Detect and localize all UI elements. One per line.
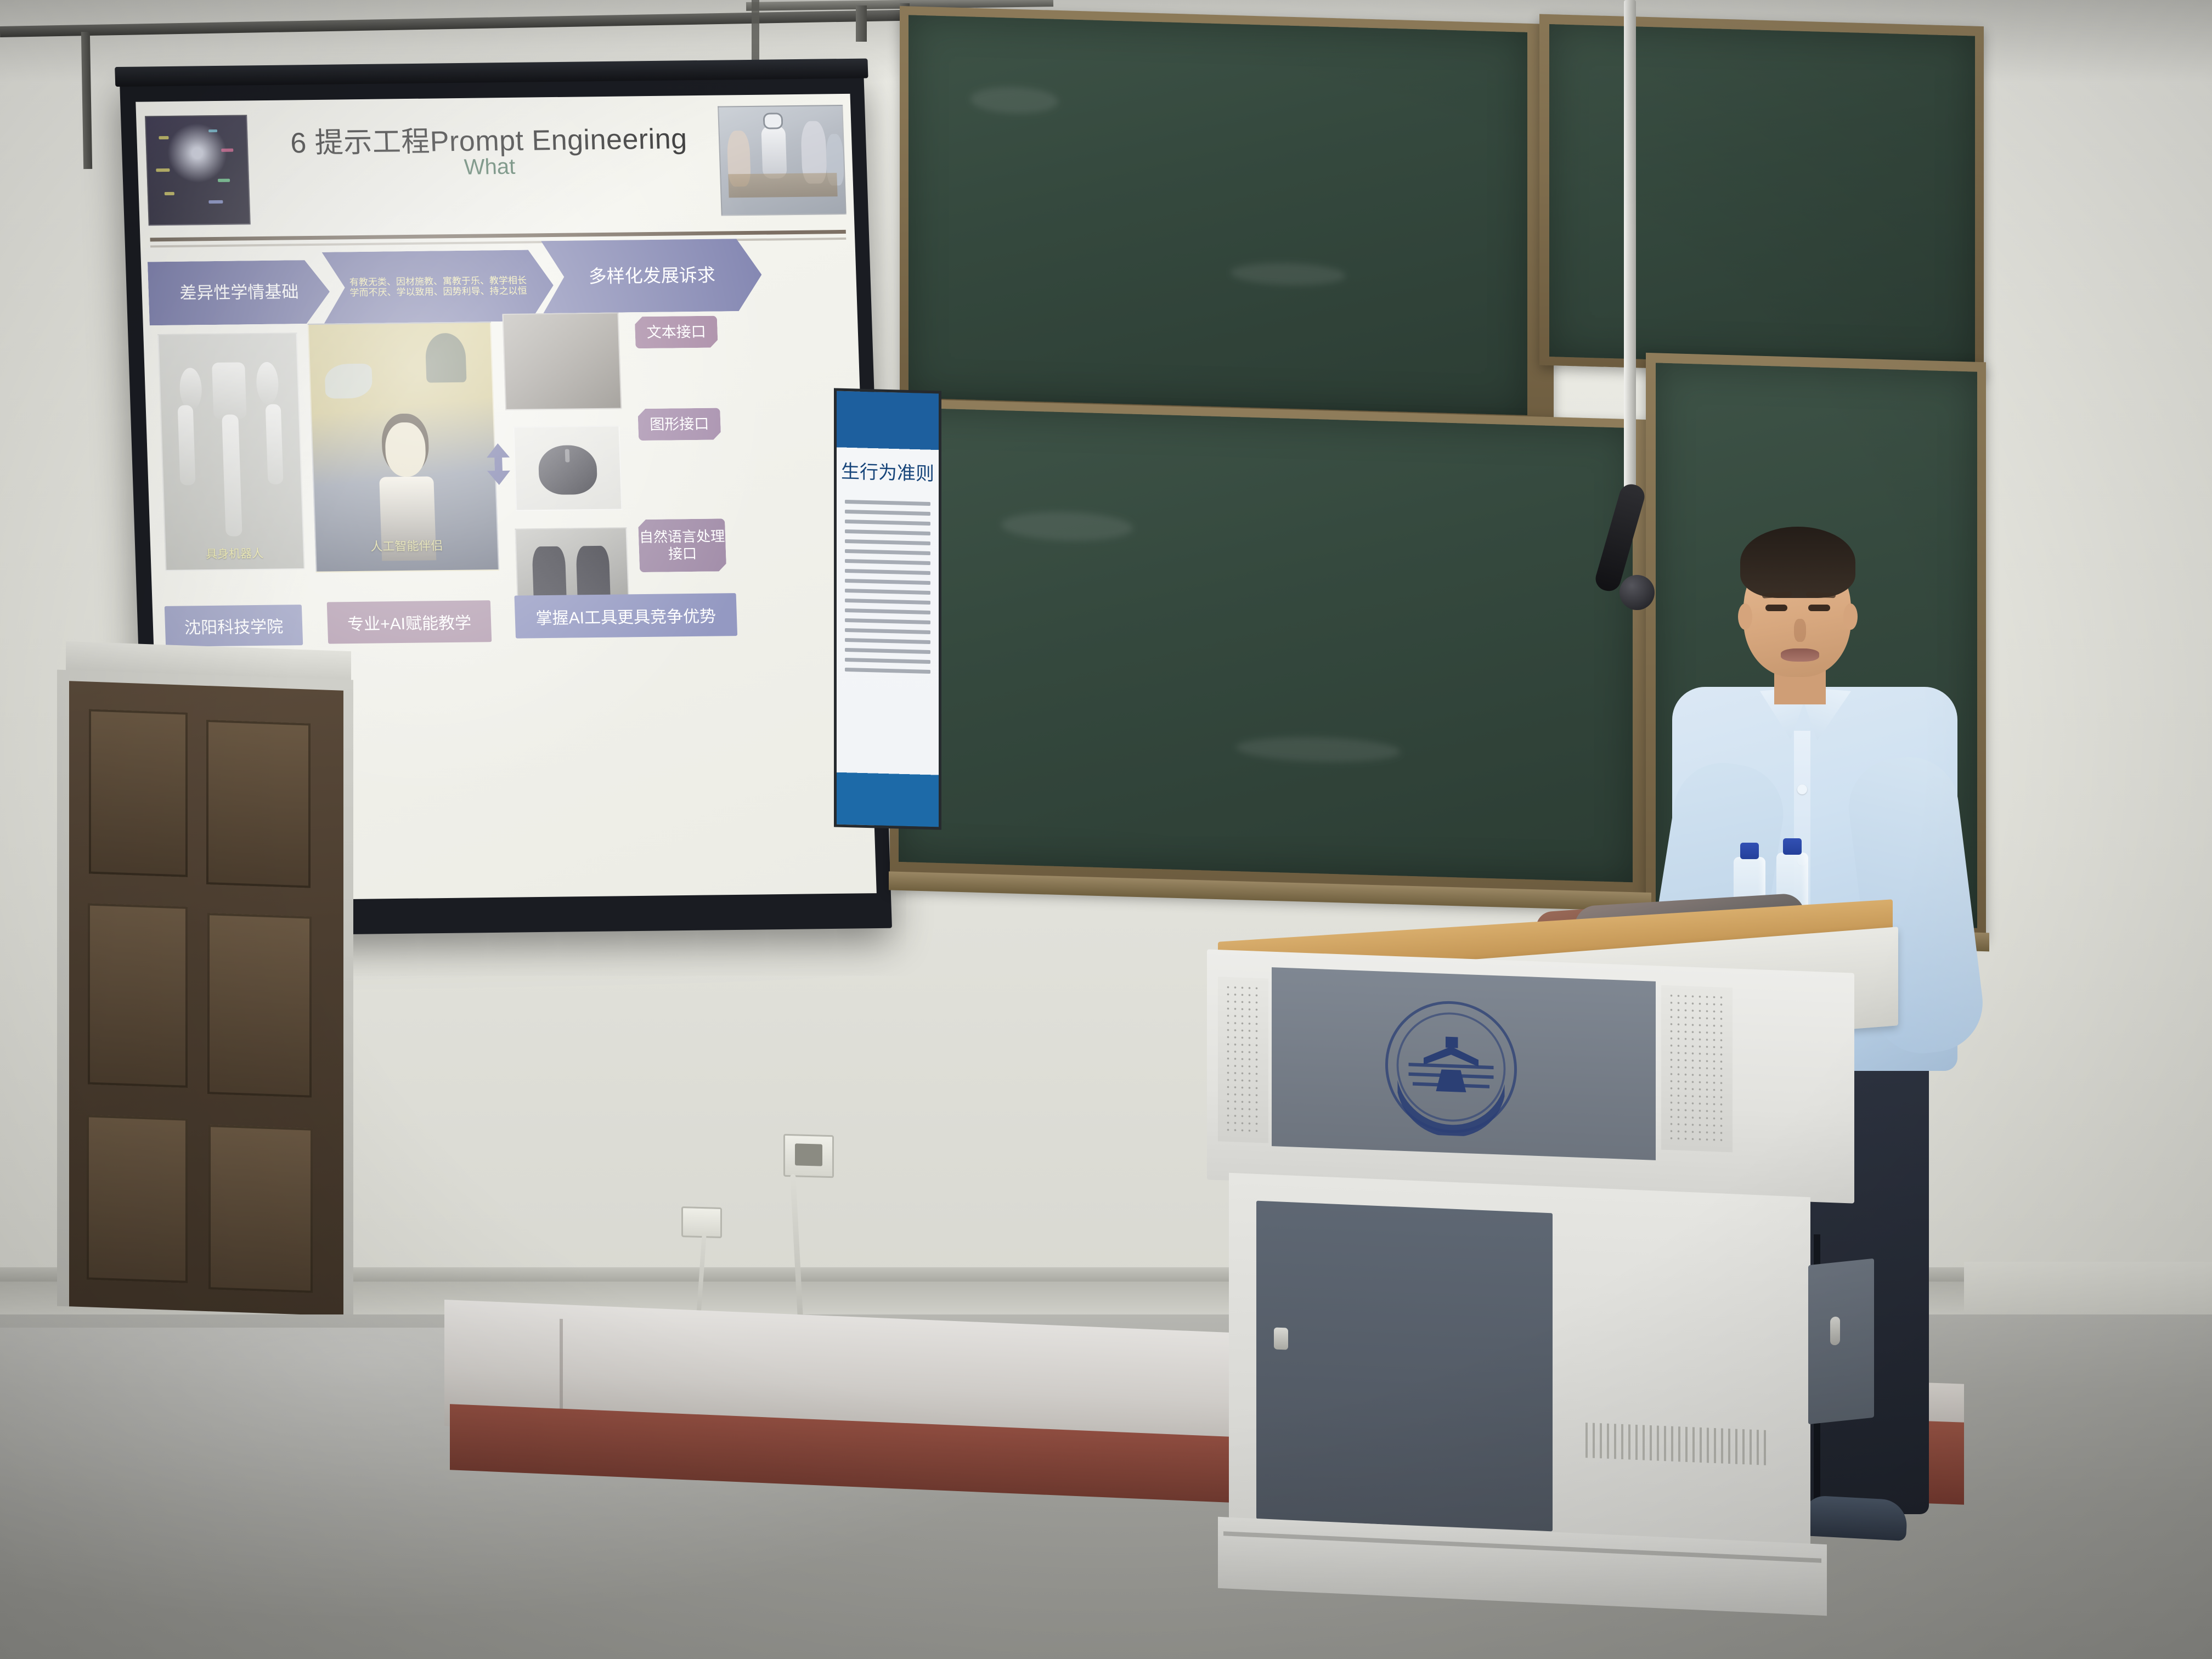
classroom-photo: 6 提示工程Prompt Engineering What 多样化发展诉求 有教… [0, 0, 2212, 1659]
blackboard-panel-2 [899, 408, 1633, 882]
footer-box-2-text: 专业+AI赋能教学 [347, 610, 471, 635]
lecturer-mouth [1781, 648, 1819, 662]
label-graphical-interface-text: 图形接口 [650, 415, 709, 434]
wooden-door[interactable] [69, 681, 343, 1316]
lecturer-eye-right [1808, 605, 1830, 611]
hands-keyboard-photo [502, 313, 622, 410]
label-text-interface-text: 文本接口 [646, 323, 706, 342]
student-code-of-conduct-poster: 生行为准则 [834, 388, 941, 830]
footer-box-3-text: 掌握AI工具更具竞争优势 [535, 603, 716, 629]
lecturer-ear-right [1843, 603, 1858, 630]
chevron-teaching-principles: 有教无类、因材施教、寓教于乐、教学相长 学而不厌、学以致用、因势利导、持之以恒 [322, 250, 555, 324]
robot-photo-caption: 具身机器人 [166, 544, 303, 562]
university-emblem [1383, 996, 1520, 1138]
footer-box-ai-teaching: 专业+AI赋能教学 [327, 600, 492, 644]
slide-subtitle: What [264, 153, 716, 182]
ai-companion-illustration: 人工智能伴侣 [308, 321, 499, 573]
exchange-arrow-icon [482, 443, 515, 486]
lectern-side-panel[interactable] [1808, 1259, 1874, 1425]
lecturer-eye-left [1765, 605, 1787, 611]
label-text-interface: 文本接口 [635, 316, 718, 349]
microphone-drop-pipe [1624, 0, 1636, 521]
lectern-speaker-right [1661, 985, 1733, 1153]
label-nlp-interface-text: 自然语言处理接口 [639, 528, 726, 563]
blackboard-panel-1 [909, 15, 1527, 415]
chevron-diverse-development: 多样化发展诉求 [541, 239, 763, 313]
lectern [1152, 878, 1948, 1657]
ceiling-hanger-a [856, 5, 867, 42]
humanoid-robot-photo: 具身机器人 [157, 332, 304, 571]
lecturer-ear-left [1738, 603, 1752, 630]
chevron-label-3: 多样化发展诉求 [588, 265, 715, 287]
ai-avatar-thumbnail-icon [145, 115, 251, 225]
wall-outlet-upper[interactable] [783, 1134, 834, 1178]
chevron-learner-differences: 差异性学情基础 [148, 260, 331, 326]
poster-title: 生行为准则 [837, 456, 939, 486]
computer-mouse-photo [513, 426, 622, 511]
label-nlp-interface: 自然语言处理接口 [638, 518, 726, 572]
lectern-side-handle-icon[interactable] [1830, 1316, 1840, 1346]
footer-box-institution: 沈阳科技学院 [165, 605, 303, 647]
lecturer-nose [1794, 619, 1806, 642]
lectern-speaker-left [1218, 977, 1268, 1143]
blackboard-panel-3 [1549, 24, 1975, 369]
wall-outlet-lower[interactable] [681, 1206, 722, 1238]
lectern-cabinet-door[interactable] [1256, 1201, 1553, 1532]
chevron-label-2-line2: 学而不厌、学以致用、因势利导、持之以恒 [349, 286, 527, 298]
footer-box-1-text: 沈阳科技学院 [184, 613, 283, 638]
poster-body-lines [845, 499, 930, 679]
illustration-caption: 人工智能伴侣 [316, 535, 498, 555]
chevron-label-1: 差异性学情基础 [179, 283, 299, 303]
label-graphical-interface: 图形接口 [637, 408, 721, 441]
lecturer-hair [1740, 527, 1855, 598]
lectern-lock-icon[interactable] [1274, 1327, 1288, 1350]
footer-box-competitive: 掌握AI工具更具竞争优势 [514, 593, 737, 639]
robot-classroom-thumbnail-icon [718, 105, 847, 216]
